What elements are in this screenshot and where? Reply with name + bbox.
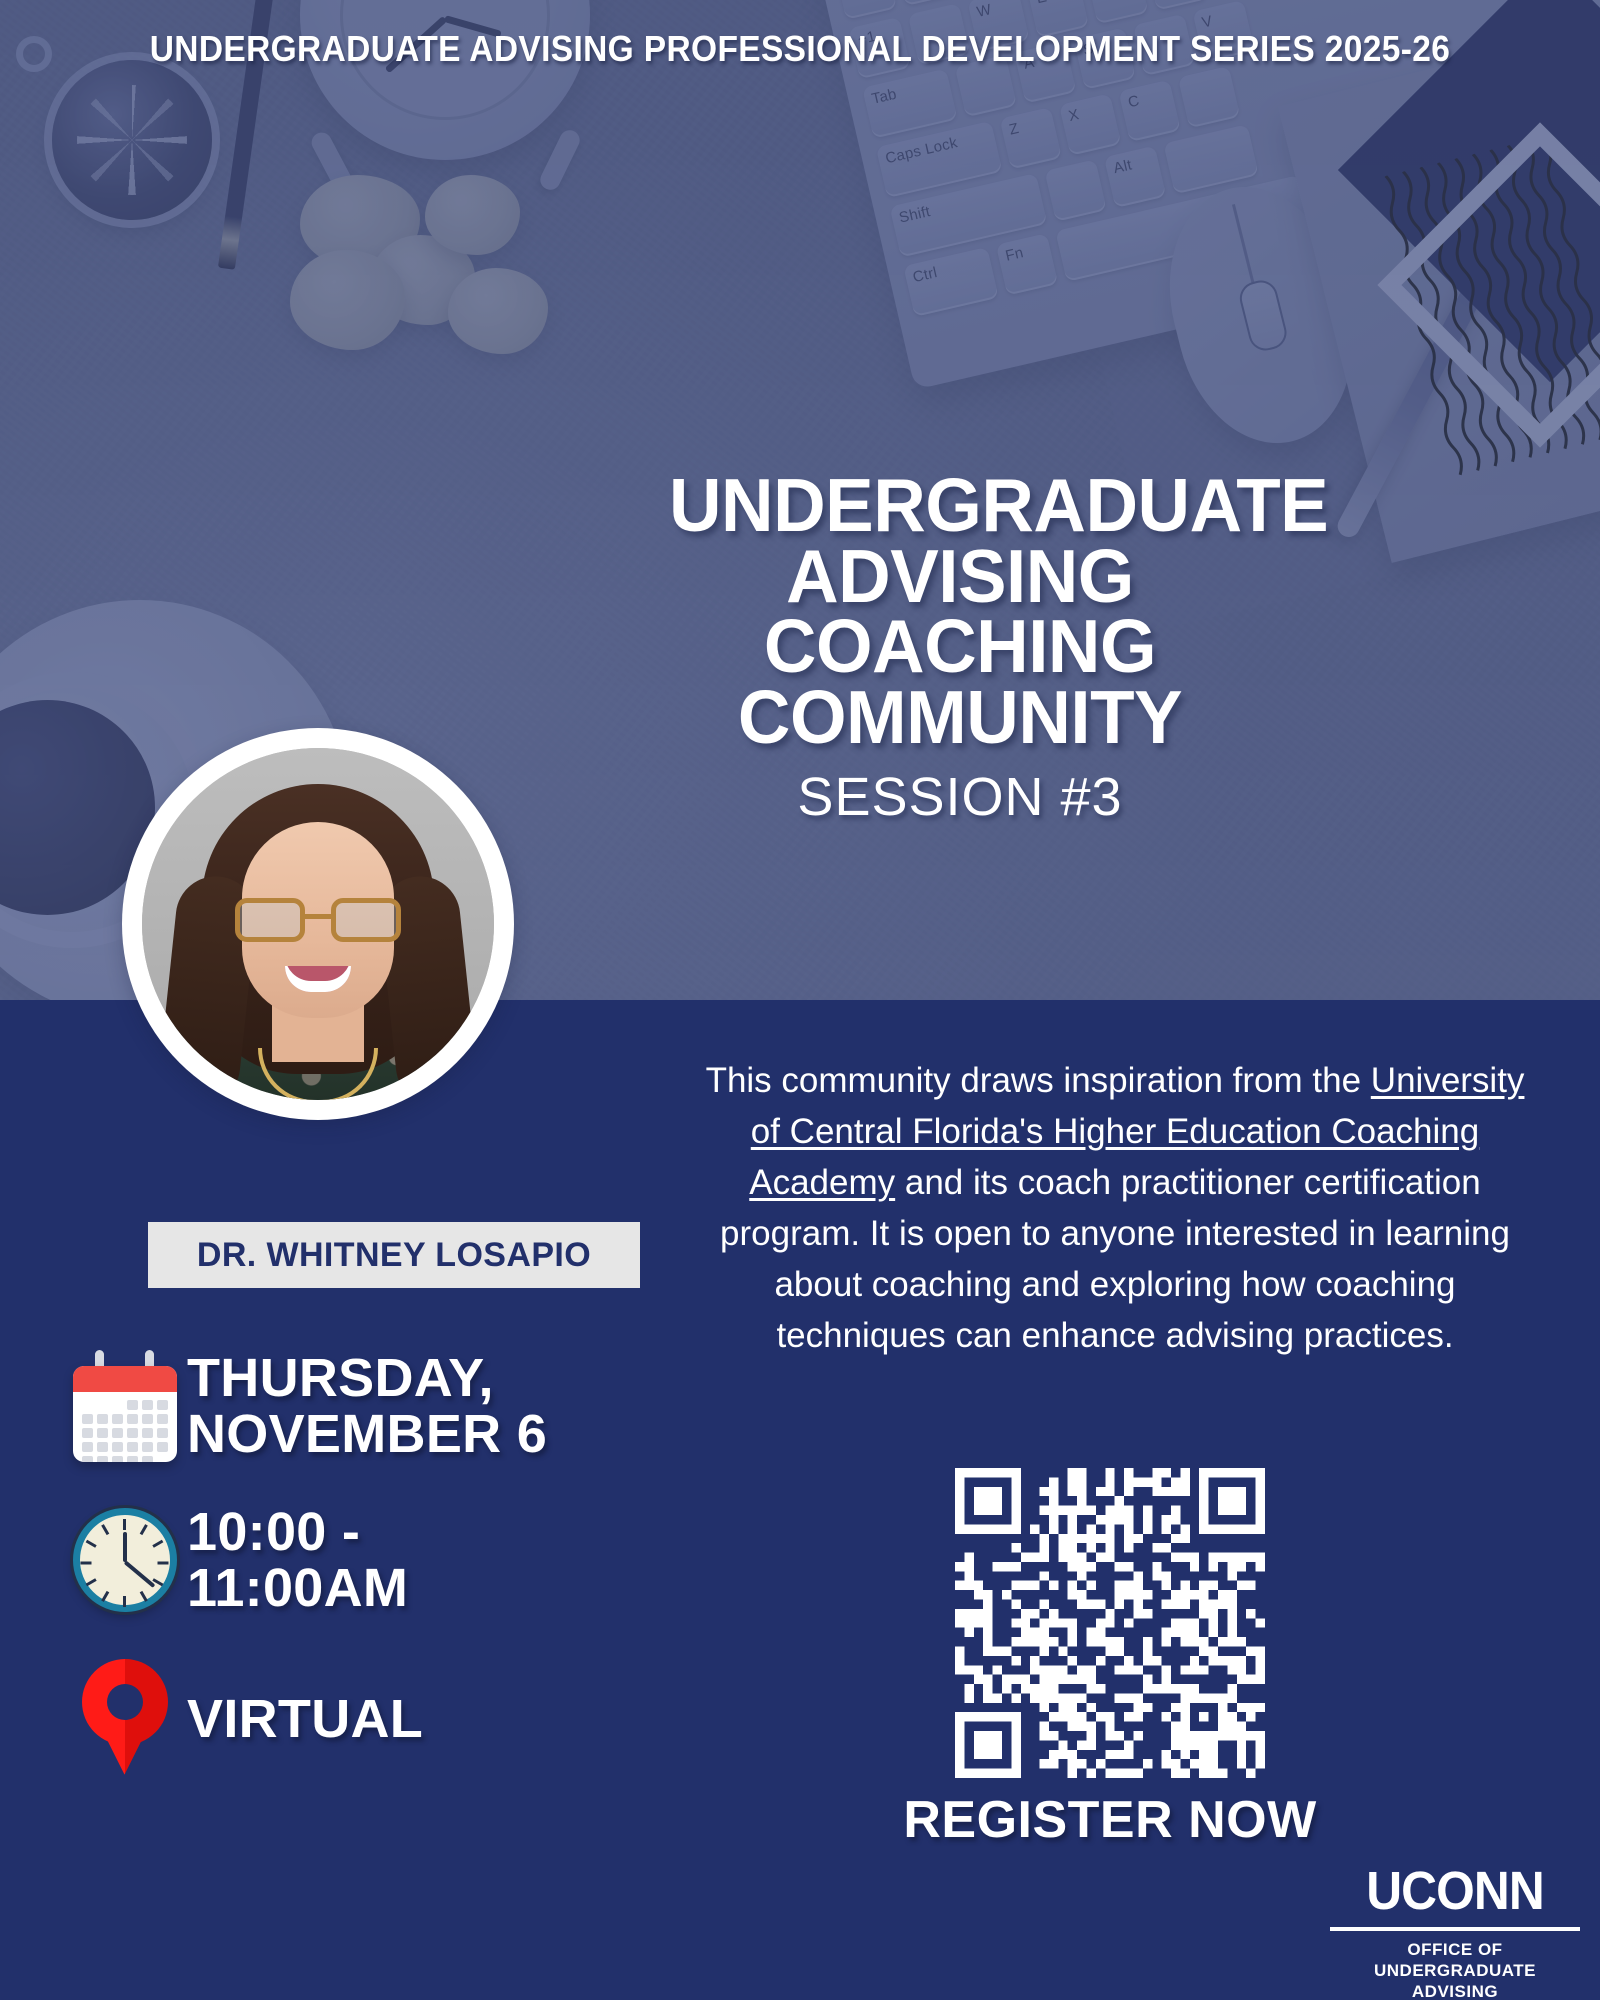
detail-text-date: THURSDAY, NOVEMBER 6 bbox=[187, 1350, 547, 1462]
detail-text-location: VIRTUAL bbox=[187, 1691, 423, 1747]
title-line-3: COACHING bbox=[669, 611, 1251, 682]
clock-icon bbox=[62, 1508, 187, 1612]
uconn-office-line-3: ADVISING bbox=[1330, 1981, 1580, 2000]
uconn-office-line-1: OFFICE OF bbox=[1330, 1939, 1580, 1960]
detail-row-location: VIRTUAL bbox=[62, 1659, 682, 1779]
description-paragraph: This community draws inspiration from th… bbox=[690, 1055, 1540, 1362]
avatar bbox=[122, 728, 514, 1120]
glasses-lens-right bbox=[331, 898, 401, 942]
title-line-4: COMMUNITY bbox=[669, 682, 1251, 753]
avatar-glasses bbox=[235, 898, 401, 944]
page-title: UNDERGRADUATE ADVISING COACHING COMMUNIT… bbox=[660, 470, 1260, 828]
calendar-icon bbox=[62, 1350, 187, 1462]
location-pin-icon bbox=[62, 1659, 187, 1779]
glasses-bridge bbox=[305, 914, 331, 919]
date-line-2: NOVEMBER 6 bbox=[187, 1406, 547, 1462]
flyer-poster: Esc@23RH ~1WEG TabASV Caps LockZXC Shift… bbox=[0, 0, 1600, 2000]
register-now-label[interactable]: REGISTER NOW bbox=[790, 1790, 1430, 1850]
title-line-2: ADVISING bbox=[669, 541, 1251, 612]
date-line-1: THURSDAY, bbox=[187, 1350, 547, 1406]
speaker-name: DR. WHITNEY LOSAPIO bbox=[197, 1236, 591, 1275]
avatar-photo bbox=[142, 748, 494, 1100]
detail-row-date: THURSDAY, NOVEMBER 6 bbox=[62, 1350, 682, 1462]
uconn-logo: UCONN OFFICE OF UNDERGRADUATE ADVISING bbox=[1330, 1860, 1580, 2000]
description-part-1: This community draws inspiration from th… bbox=[706, 1061, 1371, 1100]
glasses-lens-left bbox=[235, 898, 305, 942]
title-line-1: UNDERGRADUATE bbox=[669, 470, 1251, 541]
speaker-nameplate: DR. WHITNEY LOSAPIO bbox=[148, 1222, 640, 1288]
time-line-2: 11:00AM bbox=[187, 1560, 408, 1616]
time-line-1: 10:00 - bbox=[187, 1504, 408, 1560]
uconn-rule bbox=[1330, 1927, 1580, 1931]
uconn-wordmark: UCONN bbox=[1340, 1860, 1570, 1922]
uconn-office-line-2: UNDERGRADUATE bbox=[1330, 1960, 1580, 1981]
qr-code-registration[interactable] bbox=[955, 1468, 1265, 1778]
location-line-1: VIRTUAL bbox=[187, 1691, 423, 1747]
detail-row-time: 10:00 - 11:00AM bbox=[62, 1504, 682, 1616]
detail-text-time: 10:00 - 11:00AM bbox=[187, 1504, 408, 1616]
event-details: THURSDAY, NOVEMBER 6 bbox=[62, 1350, 682, 1821]
session-number: SESSION #3 bbox=[660, 766, 1260, 828]
series-header-title: UNDERGRADUATE ADVISING PROFESSIONAL DEVE… bbox=[56, 28, 1544, 70]
